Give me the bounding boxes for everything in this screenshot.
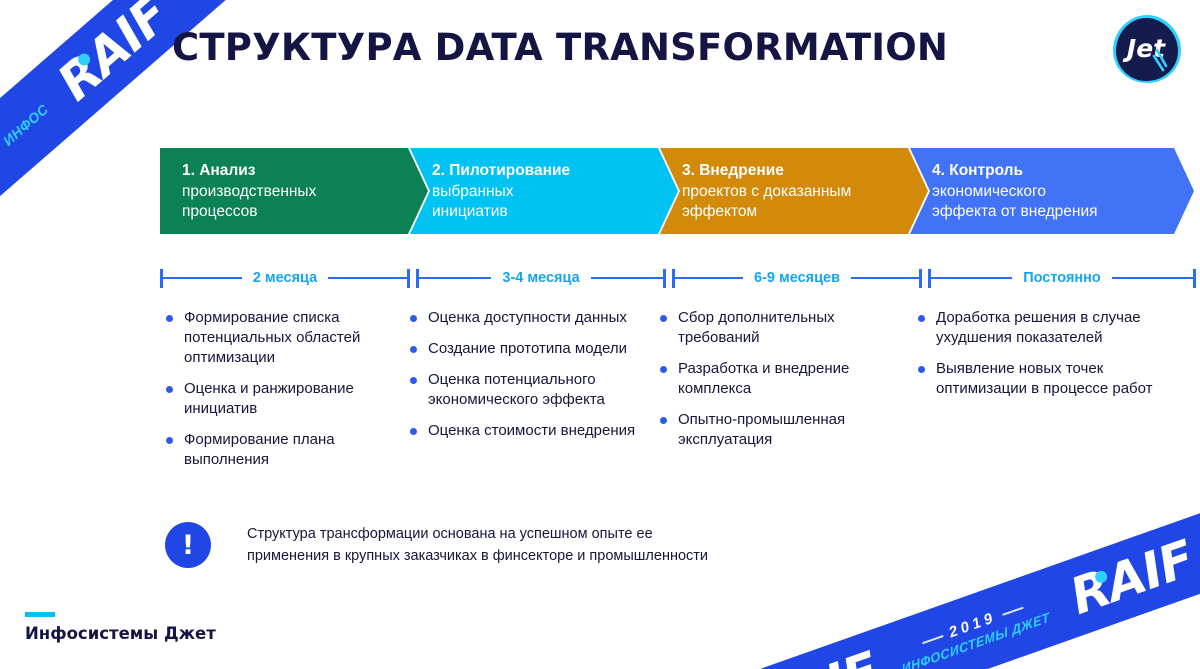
stage-1-number: 1. Анализ [182, 161, 428, 182]
bullet-text: Оценка стоимости внедрения [428, 421, 635, 441]
bullet-text: Оценка и ранжирование инициатив [184, 379, 396, 419]
bullet-dot-icon [660, 366, 667, 373]
timeline-rule-3a [675, 277, 743, 279]
stage-2-detail-line2: инициатив [432, 202, 678, 222]
timeline-segment-2: 3-4 месяца [416, 264, 666, 292]
brand-accent-bar [25, 612, 55, 617]
stage-chevron-2[interactable]: 2. Пилотирование выбранных инициатив [410, 148, 678, 234]
list-item: Создание прототипа модели [410, 339, 650, 359]
list-item: Доработка решения в случае ухудшения пок… [918, 308, 1168, 348]
timeline-segment-3: 6-9 месяцев [672, 264, 922, 292]
bullet-text: Разработка и внедрение комплекса [678, 359, 900, 399]
bullet-text: Оценка потенциального экономического эфф… [428, 370, 650, 410]
bullet-text: Сбор дополнительных требований [678, 308, 900, 348]
list-item: Опытно-промышленная эксплуатация [660, 410, 900, 450]
page-title: СТРУКТУРА DATA TRANSFORMATION [172, 26, 948, 69]
bullet-dot-icon [166, 386, 173, 393]
bullet-text: Формирование плана выполнения [184, 430, 396, 470]
duration-timeline: 2 месяца 3-4 месяца 6-9 месяцев Постоянн… [160, 264, 1196, 292]
bullet-column-1: Формирование списка потенциальных област… [166, 308, 396, 481]
raif-wordmark-3: RAIF [1064, 533, 1199, 622]
timeline-label-2: 3-4 месяца [491, 270, 590, 286]
stage-chevron-4[interactable]: 4. Контроль экономического эффекта от вн… [910, 148, 1194, 234]
bullet-dot-icon [410, 315, 417, 322]
timeline-rule-2a [419, 277, 491, 279]
timeline-segment-1: 2 месяца [160, 264, 410, 292]
list-item: Оценка доступности данных [410, 308, 650, 328]
timeline-rule-4b [1112, 277, 1193, 279]
bullet-column-2: Оценка доступности данных Создание прото… [410, 308, 650, 452]
bullet-text: Доработка решения в случае ухудшения пок… [936, 308, 1168, 348]
timeline-label-1: 2 месяца [242, 270, 328, 286]
raif-wordmark: RAIF [49, 0, 177, 109]
list-item: Выявление новых точек оптимизации в проц… [918, 359, 1168, 399]
raif-text: RAIF [47, 0, 180, 112]
bullet-text: Опытно-промышленная эксплуатация [678, 410, 900, 450]
list-item: Оценка и ранжирование инициатив [166, 379, 396, 419]
list-item: Формирование списка потенциальных област… [166, 308, 396, 368]
stage-4-number: 4. Контроль [932, 161, 1194, 182]
bullet-text: Формирование списка потенциальных област… [184, 308, 396, 368]
bullet-dot-icon [410, 428, 417, 435]
bullet-column-4: Доработка решения в случае ухудшения пок… [918, 308, 1168, 410]
slide-canvas: ИНФОС RAIF 2019 ИНФОСИСТЕМЫ ДЖЕТ RAIF [0, 0, 1200, 669]
bullet-text: Оценка доступности данных [428, 308, 627, 328]
timeline-cap-end-2 [663, 269, 666, 288]
timeline-cap-end-1 [407, 269, 410, 288]
footnote-line-1: Структура трансформации основана на успе… [247, 523, 708, 545]
footnote-line-2: применения в крупных заказчиках в финсек… [247, 545, 708, 567]
stage-2-detail-line1: выбранных [432, 182, 678, 202]
timeline-cap-end-4 [1193, 269, 1196, 288]
stage-4-detail-line1: экономического [932, 182, 1194, 202]
stage-3-detail-line1: проектов с доказанным [682, 182, 928, 202]
raif-text-2: RAIF [747, 641, 885, 669]
stage-1-detail-line2: процессов [182, 202, 428, 222]
jet-logo-icon: Jet [1110, 12, 1184, 86]
svg-text:Jet: Jet [1122, 34, 1166, 63]
timeline-segment-4: Постоянно [928, 264, 1196, 292]
timeline-rule-3b [851, 277, 919, 279]
stage-4-detail-line2: эффекта от внедрения [932, 202, 1194, 222]
stage-3-detail-line2: эффектом [682, 202, 928, 222]
year-rule-left-2 [922, 635, 943, 644]
timeline-rule-2b [591, 277, 663, 279]
bullet-text: Создание прототипа модели [428, 339, 627, 359]
bullet-dot-icon [166, 315, 173, 322]
stage-chevron-1[interactable]: 1. Анализ производственных процессов [160, 148, 428, 234]
timeline-rule-1a [163, 277, 242, 279]
bullet-dot-icon [660, 417, 667, 424]
stage-3-number: 3. Внедрение [682, 161, 928, 182]
footnote-text: Структура трансформации основана на успе… [247, 523, 708, 567]
bullet-text: Выявление новых точек оптимизации в проц… [936, 359, 1168, 399]
timeline-label-4: Постоянно [1012, 270, 1112, 286]
stage-2-number: 2. Пилотирование [432, 161, 678, 182]
timeline-rule-1b [328, 277, 407, 279]
raif-wordmark-2: RAIF [749, 645, 884, 669]
stage-1-detail-line1: производственных [182, 182, 428, 202]
timeline-label-3: 6-9 месяцев [743, 270, 851, 286]
timeline-cap-end-3 [919, 269, 922, 288]
bullet-columns: Формирование списка потенциальных област… [160, 308, 1196, 483]
bullet-dot-icon [410, 346, 417, 353]
raif-text-3: RAIF [1063, 529, 1200, 626]
bullet-dot-icon [660, 315, 667, 322]
list-item: Оценка стоимости внедрения [410, 421, 650, 441]
exclamation-icon: ! [165, 522, 211, 568]
list-item: Оценка потенциального экономического эфф… [410, 370, 650, 410]
timeline-rule-4a [931, 277, 1012, 279]
bullet-dot-icon [166, 437, 173, 444]
footnote: ! Структура трансформации основана на ус… [165, 522, 708, 568]
stage-chevron-row: 1. Анализ производственных процессов 2. … [160, 148, 1194, 234]
bullet-dot-icon [918, 366, 925, 373]
stage-chevron-3[interactable]: 3. Внедрение проектов с доказанным эффек… [660, 148, 928, 234]
list-item: Формирование плана выполнения [166, 430, 396, 470]
ribbon-company-label: ИНФОС [0, 101, 52, 149]
list-item: Разработка и внедрение комплекса [660, 359, 900, 399]
brand-footer: Инфосистемы Джет [25, 612, 216, 643]
bullet-dot-icon [410, 377, 417, 384]
bullet-column-3: Сбор дополнительных требований Разработк… [660, 308, 900, 461]
list-item: Сбор дополнительных требований [660, 308, 900, 348]
ribbon-meta-right: 2019 ИНФОСИСТЕМЫ ДЖЕТ [897, 590, 1050, 669]
bullet-dot-icon [918, 315, 925, 322]
ribbon-content: ИНФОС RAIF [0, 0, 177, 162]
year-rule-right-2 [1002, 606, 1023, 615]
brand-name: Инфосистемы Джет [25, 624, 216, 643]
